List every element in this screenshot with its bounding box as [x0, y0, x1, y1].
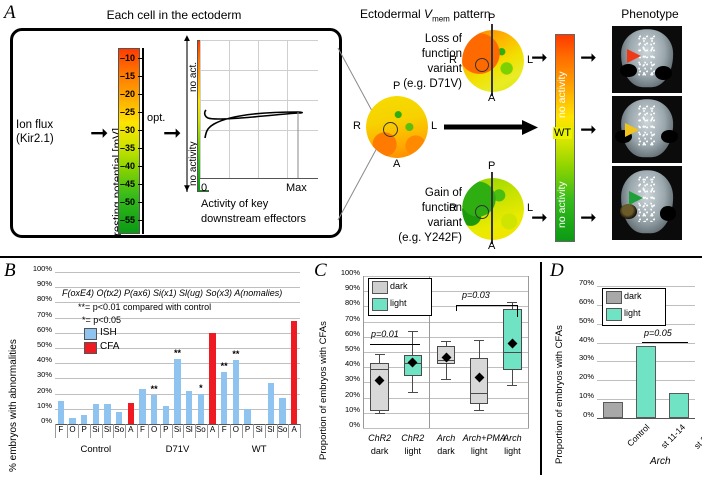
xtick-sep-17 [253, 424, 254, 438]
xtick-sep-8 [148, 424, 149, 438]
xtick-d71v-sl: Sl [183, 425, 195, 434]
bar-wt-o [233, 360, 239, 424]
panel-c-pvalue-1: p=0.01 [371, 329, 399, 339]
grad-label-bottom: no activity [556, 227, 568, 228]
panel-d-xtick-1: st 11-14 [659, 422, 687, 450]
panel-b-group-labels: ControlD71VWT [55, 444, 300, 458]
boxplot-whisker-upper-3 [479, 340, 480, 358]
xtick-wt-si: Si [253, 425, 265, 434]
gridline-0 [363, 276, 529, 277]
panel-d: D Proportion of embryos with CFAs 70%60%… [540, 258, 702, 479]
rp-tick-7: –45 [120, 179, 135, 189]
panel-d-ylabel: Proportion of embryos with CFAs [554, 463, 565, 464]
no-act-anchor: no act. [188, 92, 189, 93]
panel-c-xtick-line2-1: light [396, 445, 429, 458]
rp-tickline-5 [138, 148, 143, 149]
bar-d71v-sl [186, 391, 192, 424]
group-label-control: Control [55, 444, 137, 455]
gof-midline [491, 172, 493, 244]
lof-midline [491, 24, 493, 96]
panel-d-bar-0 [603, 402, 623, 418]
wt-axis-r: R [353, 120, 361, 132]
xtick-wt-so: So [277, 425, 289, 434]
panel-a-letter: A [4, 2, 16, 24]
xtick-sep-11 [183, 424, 184, 438]
ytick-label-0: 100% [22, 264, 52, 273]
vmem-circle-gof [462, 178, 524, 240]
grad-label-middle: WT [553, 127, 572, 139]
significance-marker-d71v-so: * [195, 383, 207, 393]
grad-label-top: no activity [556, 117, 568, 118]
panel-d-group-label: Arch [650, 456, 671, 467]
resting-potential-axis-label: resting potential [mV] [112, 235, 124, 236]
ytick-label-1: 90% [22, 279, 52, 288]
bar-d71v-p [163, 406, 169, 424]
panel-c-xtick-line2-0: dark [363, 445, 396, 458]
panel-d-ytick-5: 20% [566, 372, 594, 381]
panel-b-xlabels: FOPSiSlSoAFOPSiSlSoAFOPSiSlSoA [55, 424, 300, 438]
xtick-wt-sl: Sl [265, 425, 277, 434]
arrow-right-icon-p3: ➞ [580, 208, 597, 228]
wt-axis-p: P [393, 80, 400, 92]
rp-tickline-4 [138, 130, 143, 131]
boxplot-whisker-upper-1 [412, 331, 413, 355]
panel-c-legend-label-dark: dark [390, 281, 408, 291]
phenotype-image-wt [612, 96, 682, 163]
panel-d-bar-2 [669, 393, 689, 418]
panel-c-pvalue-2-line [456, 305, 518, 306]
panel-b-key-text: F(oxE4) O(tx2) P(ax6) Si(x1) Sl(ug) So(x… [62, 288, 282, 298]
xtick-control-sl: Sl [102, 425, 114, 434]
arrow-right-icon-gof: ➞ [531, 208, 548, 228]
panel-c-border-right [528, 276, 529, 428]
ytick-label-5: 50% [332, 344, 360, 353]
ytick-label-6: 40% [332, 359, 360, 368]
ion-flux-line1: Ion flux [16, 118, 88, 132]
panel-b-legend-swatch-cfa [84, 342, 97, 354]
significance-marker-wt-o: ** [230, 349, 242, 359]
panel-d-baseline [597, 418, 695, 419]
xtick-sep-3 [90, 424, 91, 438]
arrow-up-icon: ▲ [182, 36, 192, 42]
arrowhead-icon-green [629, 191, 643, 205]
panel-b-letter: B [4, 260, 16, 282]
rp-tickline-3 [138, 112, 143, 113]
panel-c-ylabel: Proportion of embryos with CFAs [318, 459, 329, 460]
gof-line3: variant [378, 216, 462, 231]
xtick-sep-12 [195, 424, 196, 438]
arrow-down-icon: ▼ [182, 186, 192, 192]
xtick-sep-10 [172, 424, 173, 438]
panel-d-left-rule [540, 262, 542, 475]
gridline-0 [55, 272, 300, 273]
xtick-wt-o: O [230, 425, 242, 434]
panel-d-pvalue-text: p=0.05 [644, 328, 672, 338]
rp-axis-label-anchor: resting potential [mV] [112, 236, 113, 237]
panel-c-xtick-0: ChR2dark [363, 432, 396, 458]
rp-tick-4: –30 [120, 125, 135, 135]
no-activity-anchor: no activity [188, 186, 189, 187]
boxplot-cap-lower-3 [474, 410, 484, 411]
xtick-sep-0 [55, 424, 56, 438]
rp-tickline-0 [138, 58, 143, 59]
boxplot-box-0 [370, 363, 389, 412]
panel-d-ytick-6: 10% [566, 391, 594, 400]
panel-c: C Proportion of embryos with CFAs 100%90… [310, 258, 538, 479]
gof-axis-r: R [449, 202, 457, 214]
ytick-label-7: 30% [332, 374, 360, 383]
gof-line1: Gain of [378, 186, 462, 201]
panel-b: B % embryos with abnormalities 100%90%80… [0, 258, 308, 479]
xtick-sep-20 [288, 424, 289, 438]
xtick-control-o: O [67, 425, 79, 434]
ytick-label-3: 70% [22, 310, 52, 319]
xtick-sep-18 [265, 424, 266, 438]
lof-axis-p: P [488, 12, 495, 24]
vmem-title-sub: mem [432, 14, 450, 23]
xtick-d71v-so: So [195, 425, 207, 434]
lof-axis-a: A [488, 92, 495, 104]
ytick-label-9: 10% [332, 405, 360, 414]
boxplot-cap-upper-0 [375, 354, 385, 355]
panel-c-xtick-line1-2: Arch [429, 432, 462, 445]
vmem-pattern-title: Ectodermal Vmem pattern [360, 7, 491, 23]
panel-c-xtick-2: Archdark [429, 432, 462, 458]
wt-axis-a: A [393, 158, 400, 170]
xtick-sep-6 [125, 424, 126, 438]
bar-control-a [128, 403, 134, 424]
ytick-label-7: 30% [22, 370, 52, 379]
xtick-sep-13 [207, 424, 208, 438]
ytick-label-3: 70% [332, 314, 360, 323]
lof-line1: Loss of [378, 32, 462, 47]
panel-c-xtick-line1-3: Arch+PMA [463, 432, 496, 445]
ytick-label-0: 100% [332, 268, 360, 277]
xtick-d71v-p: P [160, 425, 172, 434]
xtick-wt-f: F [218, 425, 230, 434]
activity-x-max-tick: Max [286, 182, 307, 194]
panel-b-yticks: 100%90%80%70%60%50%40%30%20%10%0% [22, 268, 52, 424]
gof-variant-label: Gain of function variant (e.g. Y242F) [378, 186, 462, 246]
activity-response-curve [200, 40, 318, 180]
panel-c-pvalue-2: p=0.03 [462, 290, 490, 300]
wt-axis-l: L [431, 120, 437, 132]
boxplot-cap-upper-4 [507, 302, 517, 303]
panel-c-pvalue-2-tick-right [517, 305, 518, 317]
xtick-control-si: Si [90, 425, 102, 434]
ytick-label-2: 80% [22, 294, 52, 303]
panel-d-legend-swatch-light [606, 308, 622, 321]
panel-d-pvalue-line [642, 342, 688, 343]
panel-c-xtick-line2-3: light [463, 445, 496, 458]
vmem-title-italic: V [424, 7, 432, 21]
gridline-9 [363, 413, 529, 414]
boxplot-cap-lower-1 [408, 392, 418, 393]
activity-x-zero-tick: 0 [201, 182, 207, 194]
panel-c-pvalue-1-line [370, 344, 420, 345]
xtick-sep-9 [160, 424, 161, 438]
panel-d-bar-1 [636, 346, 656, 418]
rp-tick-5: –35 [120, 143, 135, 153]
rp-tickline-8 [138, 202, 143, 203]
panel-d-pvalue: p=0.05 [644, 328, 672, 338]
panel-c-pvalue-2-tick-left [456, 305, 457, 311]
panel-d-ytick-7: 0% [566, 410, 594, 419]
boxplot-cap-lower-0 [375, 413, 385, 414]
group-label-d71v: D71V [137, 444, 219, 455]
boxplot-whisker-lower-1 [412, 376, 413, 391]
arrow-right-icon-1: ➞ [90, 122, 108, 144]
panel-d-gridline-0 [597, 286, 695, 287]
panel-c-xtick-line2-2: dark [429, 445, 462, 458]
bar-d71v-o [151, 395, 157, 424]
bar-wt-a [291, 321, 297, 424]
activity-x-title-line1: Activity of key [201, 198, 268, 210]
panel-b-note-single: *= p<0.05 [82, 315, 121, 325]
phenotype-image-gof [612, 166, 682, 240]
arrowhead-icon-red [627, 49, 641, 63]
xtick-sep-4 [102, 424, 103, 438]
arrowhead-icon-yellow [625, 123, 639, 137]
ytick-label-9: 10% [22, 401, 52, 410]
rp-tickline-2 [138, 94, 143, 95]
xtick-sep-5 [113, 424, 114, 438]
panel-c-xtick-line2-4: light [496, 445, 529, 458]
panel-c-xtick-4: Archlight [496, 432, 529, 458]
xtick-d71v-o: O [148, 425, 160, 434]
panel-c-pvalue-1-text: p=0.01 [371, 329, 399, 339]
panel-b-ylabel: % embryos with abnormalities [8, 471, 19, 472]
rp-tickline-6 [138, 166, 143, 167]
vmem-title-tail: pattern [453, 7, 490, 21]
boxplot-whisker-lower-2 [446, 364, 447, 379]
rp-tick-8: –50 [120, 197, 135, 207]
ytick-label-4: 60% [22, 325, 52, 334]
xtick-sep-19 [277, 424, 278, 438]
bar-d71v-si [174, 359, 180, 424]
panel-b-legend-label-ish: ISH [100, 327, 117, 338]
xtick-sep-7 [137, 424, 138, 438]
panel-b-ylabel-anchor: % embryos with abnormalities [8, 472, 9, 473]
panel-d-legend-label-light: light [624, 308, 641, 318]
ytick-label-6: 40% [22, 355, 52, 364]
boxplot-cap-upper-1 [408, 331, 418, 332]
panel-c-xlabels: ChR2darkChR2lightArchdarkArch+PMAlightAr… [363, 430, 529, 460]
vmem-title-main: Ectodermal [360, 7, 421, 21]
xtick-control-a: A [125, 425, 137, 434]
xtick-control-so: So [113, 425, 125, 434]
boxplot-whisker-lower-4 [512, 370, 513, 385]
opt-label: opt. [147, 112, 165, 124]
xtick-sep-16 [242, 424, 243, 438]
rp-tick-3: –25 [120, 107, 135, 117]
xtick-d71v-a: A [207, 425, 219, 434]
panel-c-border-left [363, 276, 364, 428]
panel-d-letter: D [550, 260, 564, 282]
grad-bottom-anchor: no activity [556, 228, 557, 229]
phenotype-image-lof [612, 26, 682, 93]
phenotype-title: Phenotype [600, 7, 700, 21]
bar-control-f [58, 401, 64, 424]
panel-c-legend-swatch-dark [372, 281, 388, 294]
panel-c-xtick-line1-1: ChR2 [396, 432, 429, 445]
xtick-sep-1 [67, 424, 68, 438]
rp-tick-labels: –10–15–20–25–30–35–40–45–50–55 [118, 48, 160, 234]
panel-d-ytick-1: 60% [566, 297, 594, 306]
xtick-control-f: F [55, 425, 67, 434]
panel-c-legend-swatch-light [372, 298, 388, 311]
panel-c-letter: C [314, 260, 327, 282]
ytick-label-5: 50% [22, 340, 52, 349]
activity-x-title-line2: downstream effectors [201, 213, 306, 225]
ion-flux-label: Ion flux (Kir2.1) [16, 118, 88, 146]
rp-tick-2: –20 [120, 89, 135, 99]
panel-a-title: Each cell in the ectoderm [24, 8, 324, 22]
panel-b-legend-swatch-ish [84, 328, 97, 340]
vmem-circle-lof [462, 30, 524, 92]
bar-control-p [81, 415, 87, 424]
gridline-10 [363, 428, 529, 429]
gof-axis-a: A [488, 240, 495, 252]
panel-d-legend-swatch-dark [606, 291, 622, 304]
rp-tick-6: –40 [120, 161, 135, 171]
group-label-wt: WT [218, 444, 300, 455]
bar-wt-p [244, 409, 250, 424]
bar-control-so [116, 412, 122, 424]
arrow-right-icon-wt [444, 118, 540, 138]
panel-d-legend-label-dark: dark [624, 291, 642, 301]
panel-d-ytick-2: 50% [566, 316, 594, 325]
xtick-sep-15 [230, 424, 231, 438]
arrow-right-icon-2: ➞ [163, 122, 181, 144]
significance-marker-d71v-o: ** [148, 384, 160, 394]
boxplot-cap-lower-2 [441, 379, 451, 380]
grad-top-anchor: no activity [556, 118, 557, 119]
xtick-d71v-si: Si [172, 425, 184, 434]
boxplot-median-0 [370, 369, 389, 370]
arrow-right-icon-p2: ➞ [580, 120, 597, 140]
bar-wt-so [279, 398, 285, 424]
ytick-label-8: 20% [332, 390, 360, 399]
bar-control-si [93, 404, 99, 424]
xtick-sep-14 [218, 424, 219, 438]
ytick-label-4: 60% [332, 329, 360, 338]
significance-marker-d71v-si: ** [172, 348, 184, 358]
rp-tick-0: –10 [120, 53, 135, 63]
activity-plot [200, 40, 318, 190]
panel-d-xtick-2: st 20-24 [692, 422, 702, 451]
boxplot-whisker-upper-0 [379, 354, 380, 363]
ytick-label-2: 80% [332, 298, 360, 307]
rp-tick-1: –15 [120, 71, 135, 81]
panel-c-yticks: 100%90%80%70%60%50%40%30%20%10%0% [332, 272, 360, 428]
ytick-label-10: 0% [332, 420, 360, 429]
gof-line4: (e.g. Y242F) [378, 231, 462, 246]
boxplot-median-3 [470, 393, 489, 394]
panel-d-ytick-4: 30% [566, 353, 594, 362]
boxplot-cap-upper-3 [474, 340, 484, 341]
xtick-wt-p: P [242, 425, 254, 434]
panel-d-ytick-0: 70% [566, 278, 594, 287]
ion-flux-line2: (Kir2.1) [16, 132, 88, 146]
panel-c-xtick-3: Arch+PMAlight [463, 432, 496, 458]
panel-d-ylabel-anchor: Proportion of embryos with CFAs [554, 464, 555, 465]
wt-ring [383, 122, 398, 137]
panel-b-legend-label-cfa: CFA [100, 341, 119, 352]
panel-d-xlabels: Controlst 11-14st 20-24 [597, 420, 695, 460]
xtick-sep-2 [78, 424, 79, 438]
boxplot-cap-lower-4 [507, 385, 517, 386]
panel-c-pvalue-2-text: p=0.03 [462, 290, 490, 300]
panel-c-ylabel-anchor: Proportion of embryos with CFAs [318, 460, 319, 461]
panel-d-yticks: 70%60%50%40%30%20%10%0% [566, 282, 594, 418]
xtick-control-p: P [78, 425, 90, 434]
bar-wt-sl [268, 383, 274, 424]
panel-c-xtick-line1-0: ChR2 [363, 432, 396, 445]
panel-b-note-double: **= p<0.01 compared with control [78, 302, 211, 312]
ytick-label-10: 0% [22, 416, 52, 425]
gof-axis-p: P [488, 160, 495, 172]
bar-wt-f [221, 372, 227, 424]
bar-control-sl [104, 404, 110, 424]
lof-axis-r: R [449, 54, 457, 66]
rp-tickline-1 [138, 76, 143, 77]
ytick-label-1: 90% [332, 283, 360, 292]
xtick-d71v-f: F [137, 425, 149, 434]
panel-d-xtick-0: Control [625, 422, 651, 448]
bar-d71v-f [139, 389, 145, 424]
ytick-label-8: 20% [22, 386, 52, 395]
arrow-right-icon-p1: ➞ [580, 48, 597, 68]
panel-a: A Each cell in the ectoderm Ion flux (Ki… [0, 0, 702, 256]
panel-d-ytick-3: 40% [566, 335, 594, 344]
panel-c-xtick-1: ChR2light [396, 432, 429, 458]
rp-tick-9: –55 [120, 215, 135, 225]
lof-line4: (e.g. D71V) [378, 77, 462, 92]
boxplot-cap-upper-2 [441, 341, 451, 342]
rp-tickline-9 [138, 220, 143, 221]
boxplot-median-4 [503, 352, 522, 353]
significance-marker-wt-f: ** [218, 361, 230, 371]
bar-d71v-a [209, 333, 215, 424]
lof-ring [475, 58, 489, 72]
arrow-right-icon-lof: ➞ [531, 48, 548, 68]
panel-c-xtick-line1-4: Arch [496, 432, 529, 445]
panel-c-legend-label-light: light [390, 298, 407, 308]
rp-tickline-7 [138, 184, 143, 185]
xtick-sep-end [300, 424, 301, 438]
xtick-wt-a: A [288, 425, 300, 434]
gof-ring [475, 205, 489, 219]
bar-d71v-so [198, 394, 204, 424]
